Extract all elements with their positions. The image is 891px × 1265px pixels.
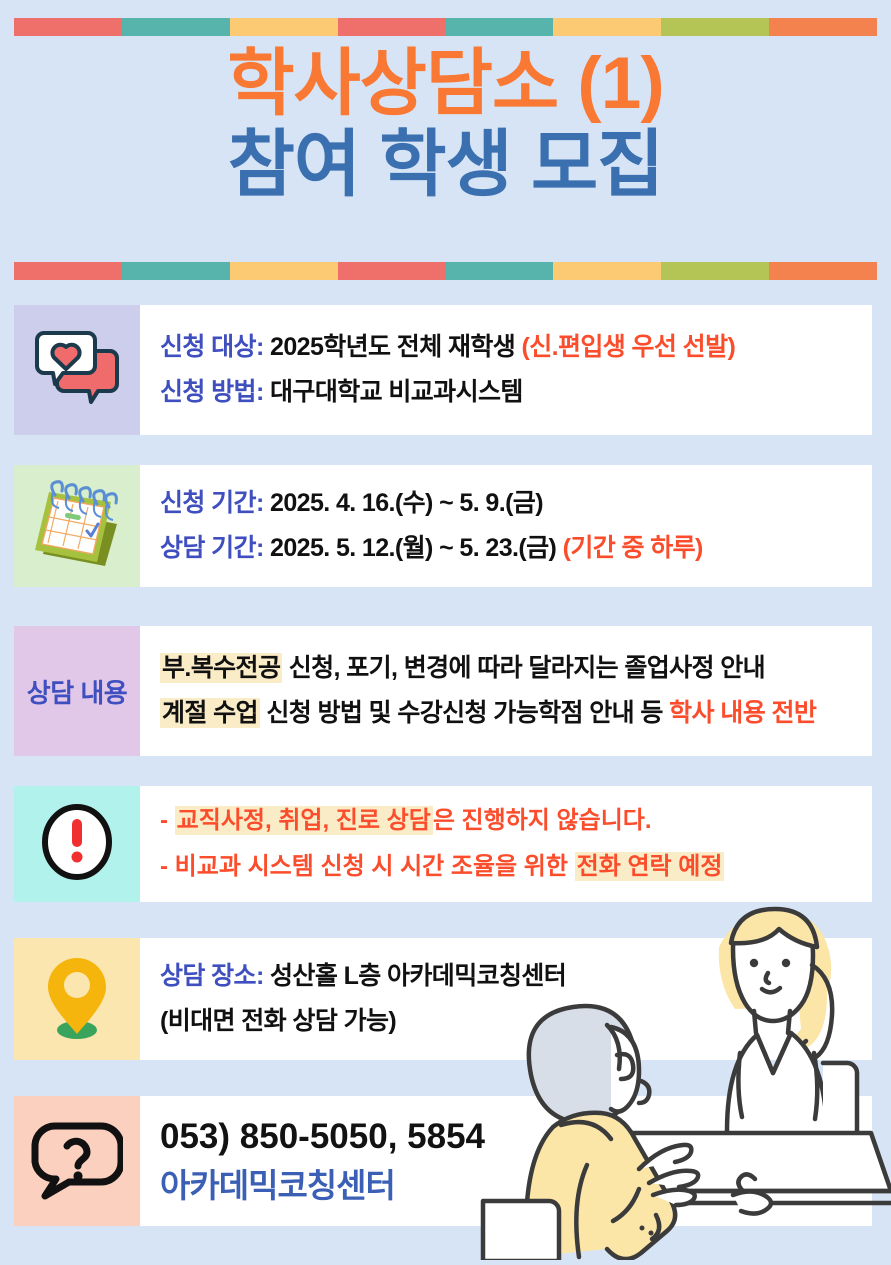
stripe-segment-1 (14, 262, 122, 280)
stripe-segment-6 (553, 262, 661, 280)
row-counsel-content: 상담 내용 부.복수전공 신청, 포기, 변경에 따라 달라지는 졸업사정 안내… (14, 626, 872, 756)
row-icon-cell (14, 938, 140, 1060)
stripe-segment-8 (769, 18, 877, 36)
row-icon-cell: 상담 내용 (14, 626, 140, 756)
notice-bullet-2: - (160, 853, 168, 880)
row-place: 상담 장소: 성산홀 L층 아카데믹코칭센터 (비대면 전화 상담 가능) (14, 938, 872, 1060)
target-line-1: 신청 대상: 2025학년도 전체 재학생 (신.편입생 우선 선발) (160, 334, 862, 362)
row-text-cell: 신청 기간: 2025. 4. 16.(수) ~ 5. 9.(금) 상담 기간:… (140, 465, 872, 587)
row-text-cell: - 교직사정, 취업, 진로 상담은 진행하지 않습니다. - 비교과 시스템 … (140, 786, 872, 902)
counsel-content-line-2: 계절 수업 신청 방법 및 수강신청 가능학점 안내 등 학사 내용 전반 (160, 700, 862, 728)
stripe-segment-7 (661, 18, 769, 36)
place-line-1: 상담 장소: 성산홀 L층 아카데믹코칭센터 (160, 963, 862, 991)
target-line-2: 신청 방법: 대구대학교 비교과시스템 (160, 379, 862, 407)
stripe-segment-3 (230, 262, 338, 280)
contact-phone-number: 053) 850-5050, 5854 (160, 1118, 862, 1157)
counsel-content-emphasis: 학사 내용 전반 (669, 699, 816, 727)
counsel-content-rest-1: 신청, 포기, 변경에 따라 달라지는 졸업사정 안내 (289, 654, 765, 682)
row-notice: - 교직사정, 취업, 진로 상담은 진행하지 않습니다. - 비교과 시스템 … (14, 786, 872, 902)
stripe-segment-5 (446, 262, 554, 280)
row-icon-cell (14, 1096, 140, 1226)
notice-highlight-2: 전화 연락 예정 (575, 852, 725, 881)
stripe-segment-6 (553, 18, 661, 36)
notice-highlight-1: 교직사정, 취업, 진로 상담 (175, 806, 433, 835)
target-label: 신청 대상: (160, 333, 264, 361)
stripe-segment-8 (769, 262, 877, 280)
row-contact: 053) 850-5050, 5854 아카데믹코칭센터 (14, 1096, 872, 1226)
notice-line-1: - 교직사정, 취업, 진로 상담은 진행하지 않습니다. (160, 808, 862, 834)
stripe-segment-3 (230, 18, 338, 36)
counsel-period-label: 상담 기간: (160, 534, 264, 562)
row-application-target: 신청 대상: 2025학년도 전체 재학생 (신.편입생 우선 선발) 신청 방… (14, 305, 872, 435)
stripe-segment-2 (122, 18, 230, 36)
counsel-content-highlight-1: 부.복수전공 (160, 653, 282, 683)
counsel-content-rest-2: 신청 방법 및 수강신청 가능학점 안내 등 (266, 699, 662, 727)
row-text-cell: 상담 장소: 성산홀 L층 아카데믹코칭센터 (비대면 전화 상담 가능) (140, 938, 872, 1060)
apply-method-value: 대구대학교 비교과시스템 (270, 378, 523, 406)
apply-method-label: 신청 방법: (160, 378, 264, 406)
counsel-content-highlight-2: 계절 수업 (160, 698, 260, 728)
desk-calendar-icon (25, 478, 129, 575)
title-line-1: 학사상담소 (1) (0, 46, 891, 121)
stripe-segment-5 (446, 18, 554, 36)
stripe-segment-4 (338, 262, 446, 280)
notice-bullet-1: - (160, 807, 168, 834)
place-line-2: (비대면 전화 상담 가능) (160, 1008, 862, 1036)
row-text-cell: 053) 850-5050, 5854 아카데믹코칭센터 (140, 1096, 872, 1226)
counsel-period-value: 2025. 5. 12.(월) ~ 5. 23.(금) (270, 534, 556, 562)
place-value: 성산홀 L층 아카데믹코칭센터 (270, 962, 566, 990)
stripe-segment-2 (122, 262, 230, 280)
apply-period-line: 신청 기간: 2025. 4. 16.(수) ~ 5. 9.(금) (160, 490, 862, 518)
exclamation-circle-icon (41, 803, 113, 886)
place-label: 상담 장소: (160, 962, 264, 990)
poster-title: 학사상담소 (1) 참여 학생 모집 (0, 46, 891, 202)
target-note: (신.편입생 우선 선발) (522, 333, 736, 361)
row-icon-cell (14, 305, 140, 435)
counsel-period-note: (기간 중 하루) (563, 534, 703, 562)
notice-rest-1: 은 진행하지 않습니다. (433, 807, 652, 834)
location-pin-icon (39, 952, 115, 1047)
stripe-segment-4 (338, 18, 446, 36)
notice-rest-2: 비교과 시스템 신청 시 시간 조율을 위한 (175, 853, 568, 880)
contact-center-name: 아카데믹코칭센터 (160, 1168, 862, 1204)
top-color-stripe (14, 18, 877, 36)
speech-bubble-heart-icon (34, 329, 120, 412)
row-period: 신청 기간: 2025. 4. 16.(수) ~ 5. 9.(금) 상담 기간:… (14, 465, 872, 587)
counsel-content-line-1: 부.복수전공 신청, 포기, 변경에 따라 달라지는 졸업사정 안내 (160, 655, 862, 683)
apply-period-value: 2025. 4. 16.(수) ~ 5. 9.(금) (270, 489, 543, 517)
row-text-cell: 신청 대상: 2025학년도 전체 재학생 (신.편입생 우선 선발) 신청 방… (140, 305, 872, 435)
row-icon-cell (14, 786, 140, 902)
apply-period-label: 신청 기간: (160, 489, 264, 517)
counsel-content-label: 상담 내용 (27, 673, 127, 710)
title-underline-stripe (14, 262, 877, 280)
stripe-segment-1 (14, 18, 122, 36)
counsel-period-line: 상담 기간: 2025. 5. 12.(월) ~ 5. 23.(금) (기간 중… (160, 535, 862, 563)
stripe-segment-7 (661, 262, 769, 280)
notice-line-2: - 비교과 시스템 신청 시 시간 조율을 위한 전화 연락 예정 (160, 854, 862, 880)
question-speech-bubble-icon (31, 1118, 123, 1205)
row-text-cell: 부.복수전공 신청, 포기, 변경에 따라 달라지는 졸업사정 안내 계절 수업… (140, 626, 872, 756)
row-icon-cell (14, 465, 140, 587)
title-line-2: 참여 학생 모집 (0, 127, 891, 202)
target-value: 2025학년도 전체 재학생 (270, 333, 515, 361)
